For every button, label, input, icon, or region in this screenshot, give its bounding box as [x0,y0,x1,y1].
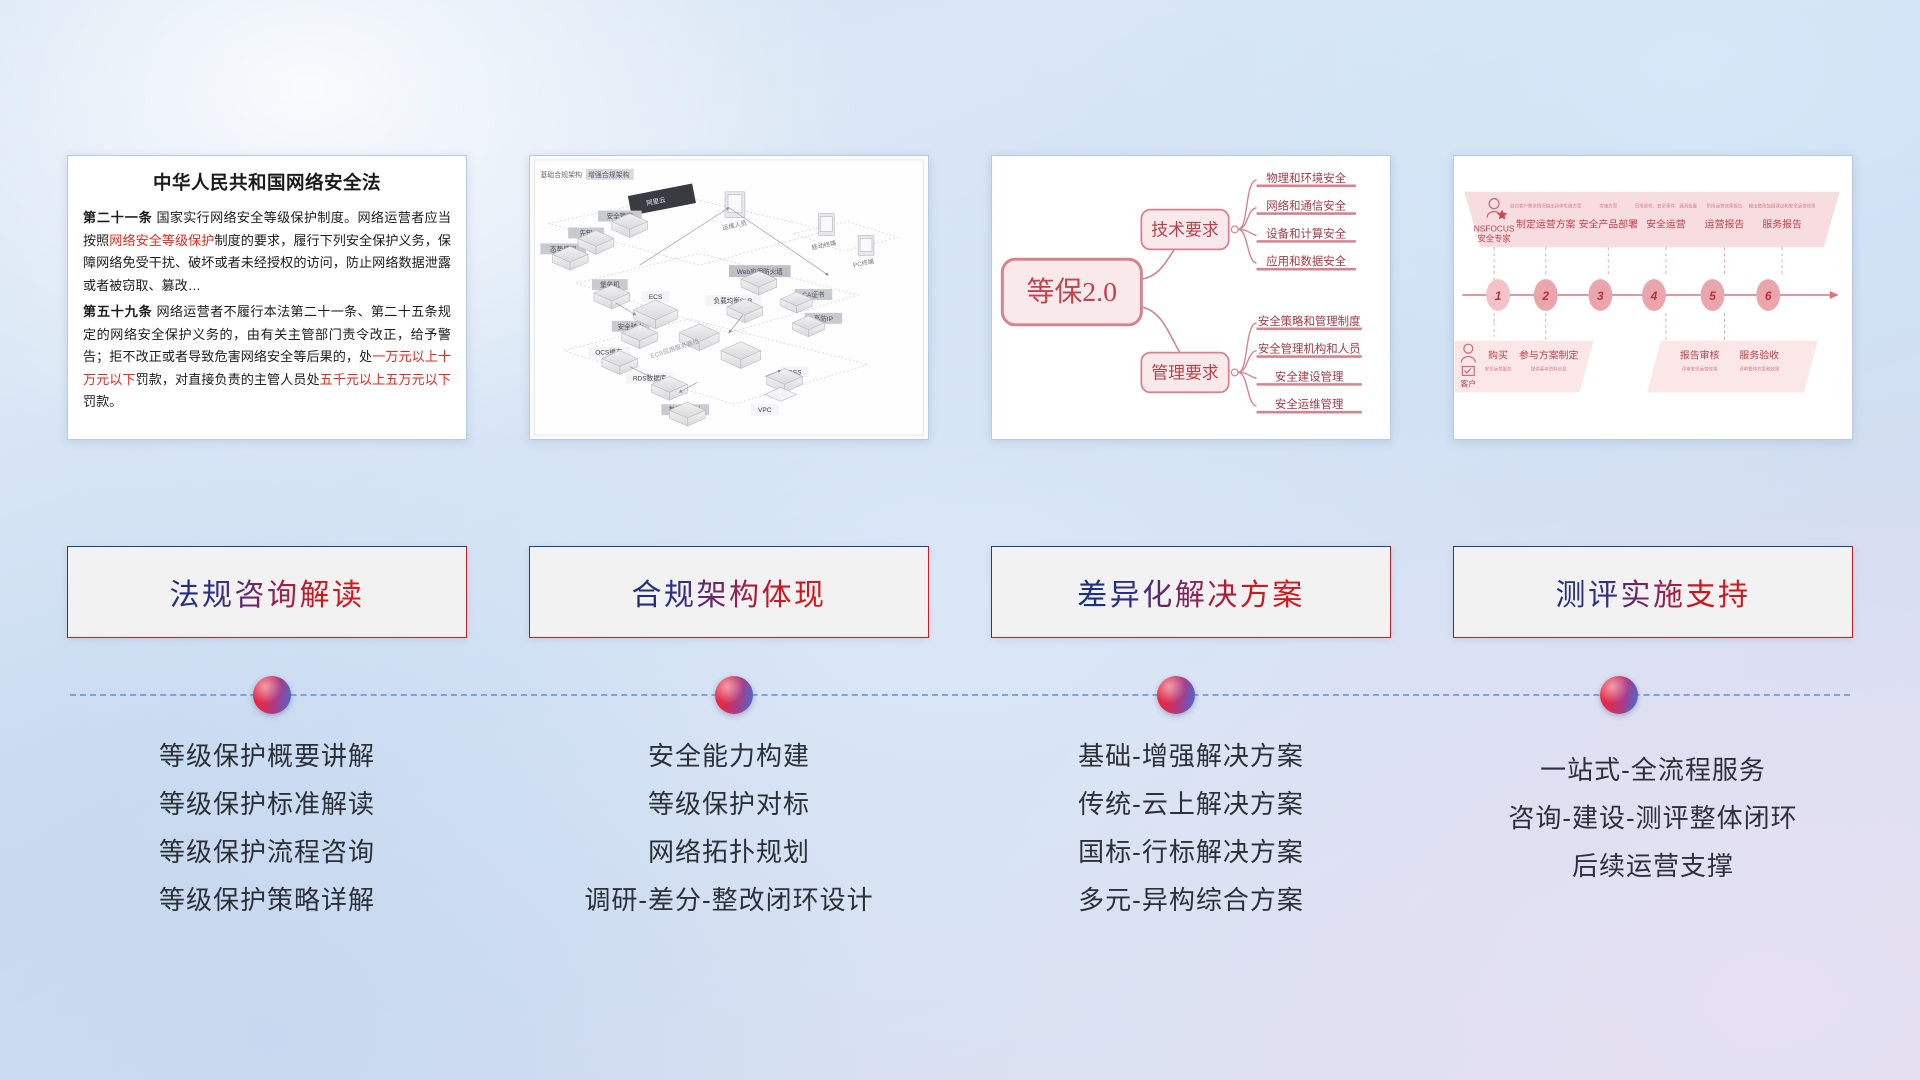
list-item: 等级保护概要讲解 [159,739,375,774]
list-item: 传统-云上解决方案 [1078,787,1304,822]
timeline-node-3[interactable] [1157,676,1195,714]
flow-vendor-title-1: 安全产品部署 [1579,217,1639,230]
mindmap-diagram: 等保2.0 技术要求 管理要求 [992,156,1390,439]
list-item: 后续运营支撑 [1572,849,1734,884]
list-assessment: 一站式-全流程服务 咨询-建设-测评整体闭环 后续运营支撑 [1453,735,1853,965]
flow-step-2: 2 [1541,289,1549,303]
mindmap-root: 等保2.0 [1027,277,1117,308]
preview-cards-row: 中华人民共和国网络安全法 第二十一条 国家实行网络安全等级保护制度。网络运营者应… [0,155,1920,445]
list-architecture: 安全能力构建 等级保护对标 网络拓扑规划 调研-差分-整改闭环设计 [529,735,929,965]
list-item: 咨询-建设-测评整体闭环 [1508,801,1797,836]
timeline-node-1[interactable] [253,676,291,714]
mindmap-branch-1: 管理要求 [1151,363,1219,382]
headline-regulation: 法规咨询解读 [170,570,365,614]
list-item: 调研-差分-整改闭环设计 [584,883,873,918]
flow-vendor-caption-0: 结合客户需求情况输出具体实施方案 [1510,203,1582,210]
list-item: 等级保护对标 [648,787,810,822]
list-item: 国标-行标解决方案 [1078,835,1304,870]
mindmap-leaf-tech-1: 网络和通信安全 [1266,199,1346,213]
flow-vendor-title-3: 运营报告 [1705,217,1745,230]
flow-customer-caption-1: 提供基本资料信息 [1531,365,1567,372]
flow-customer-title-1: 参与方案制定 [1519,349,1579,362]
headline-architecture: 合规架构体现 [632,570,827,614]
mindmap-branch-0: 技术要求 [1151,220,1219,239]
flow-vendor-title-2: 安全运营 [1646,217,1686,230]
mindmap-leaf-tech-2: 设备和计算安全 [1266,226,1346,240]
service-flow-card[interactable]: NSFOCUS 安全专家 结合客户需求情况输出具体实施方案 制定运营方案 实施方… [1453,155,1853,440]
timeline-node-2[interactable] [715,676,753,714]
flow-customer-caption-2: 评审安全运营效果 [1682,365,1718,372]
list-item: 等级保护策略详解 [159,883,375,918]
flow-step-3: 3 [1597,289,1604,303]
headline-box-assessment[interactable]: 测评实施支持 [1453,546,1853,638]
list-item: 基础-增强解决方案 [1078,739,1304,774]
architecture-diagram: 基础合规架构 增强合规架构 阿里云 安全管家 先知 [530,156,928,439]
service-flow-diagram: NSFOCUS 安全专家 结合客户需求情况输出具体实施方案 制定运营方案 实施方… [1454,156,1852,439]
flow-step-4: 4 [1650,289,1658,303]
list-item: 一站式-全流程服务 [1540,753,1766,788]
flow-customer-title-3: 服务验收 [1739,349,1779,362]
headline-solution: 差异化解决方案 [1077,570,1305,614]
headline-box-regulation[interactable]: 法规咨询解读 [67,546,467,638]
list-regulation: 等级保护概要讲解 等级保护标准解读 等级保护流程咨询 等级保护策略详解 [67,735,467,965]
law-article-2-body: 网络运营者不履行本法第二十一条、第二十五条规定的网络安全保护义务的，由有关主管部… [83,304,451,409]
flow-customer-title-2: 报告审核 [1680,349,1720,362]
flow-customer-caption-3: 评审整体方案和效果 [1739,365,1780,372]
cloud-architecture-card[interactable]: 基础合规架构 增强合规架构 阿里云 安全管家 先知 [529,155,929,440]
headline-boxes-row: 法规咨询解读 合规架构体现 差异化解决方案 测评实施支持 [0,546,1920,638]
flow-vendor-caption-3: 阶段运营效果报告 [1707,203,1743,210]
arch-tab-0: 基础合规架构 [540,170,582,179]
law-excerpt-card[interactable]: 中华人民共和国网络安全法 第二十一条 国家实行网络安全等级保护制度。网络运营者应… [67,155,467,440]
flow-vendor-role: 安全专家 [1477,233,1511,243]
arch-tab-1: 增强合规架构 [588,170,630,179]
slide-canvas: 中华人民共和国网络安全法 第二十一条 国家实行网络安全等级保护制度。网络运营者应… [0,0,1920,1080]
list-item: 多元-异构综合方案 [1078,883,1304,918]
mindmap-leaf-mgmt-3: 安全运维管理 [1275,397,1344,411]
mindmap-leaf-mgmt-2: 安全建设管理 [1275,369,1344,383]
flow-customer-caption-0: 安全运营服务 [1485,365,1512,372]
flow-step-1: 1 [1495,289,1502,303]
law-article-2: 第五十九条 网络运营者不履行本法第二十一条、第二十五条规定的网络安全保护义务的，… [83,301,451,414]
list-item: 网络拓扑规划 [648,835,810,870]
headline-box-architecture[interactable]: 合规架构体现 [529,546,929,638]
flow-vendor-caption-2: 日常巡检、安全事件、漏洞处置 [1635,203,1698,210]
timeline-node-4[interactable] [1600,676,1638,714]
flow-customer-label: 客户 [1460,378,1476,388]
mindmap-leaf-tech-3: 应用和数据安全 [1266,254,1346,268]
flow-vendor-name: NSFOCUS [1474,223,1515,233]
flow-step-5: 5 [1709,289,1716,303]
flow-step-6: 6 [1765,289,1772,303]
flow-vendor-caption-4: 输出整改加固建议和安全运营效果 [1749,203,1816,210]
timeline-dashed-line [70,694,1850,696]
mindmap-leaf-tech-0: 物理和环境安全 [1266,171,1346,185]
flow-vendor-title-4: 服务报告 [1762,217,1802,230]
list-item: 等级保护流程咨询 [159,835,375,870]
list-solution: 基础-增强解决方案 传统-云上解决方案 国标-行标解决方案 多元-异构综合方案 [991,735,1391,965]
flow-vendor-title-0: 制定运营方案 [1516,217,1576,230]
mindmap-leaf-mgmt-0: 安全策略和管理制度 [1258,314,1361,328]
law-article-2-label: 第五十九条 [83,304,153,319]
headline-assessment: 测评实施支持 [1556,570,1751,614]
mindmap-card[interactable]: 等保2.0 技术要求 管理要求 [991,155,1391,440]
mindmap-leaf-mgmt-1: 安全管理机构和人员 [1258,342,1361,356]
flow-vendor-caption-1: 实施方案 [1599,203,1617,210]
law-article-1: 第二十一条 国家实行网络安全等级保护制度。网络运营者应当按照网络安全等级保护制度… [83,207,451,297]
law-article-1-label: 第二十一条 [83,210,153,225]
feature-lists-row: 等级保护概要讲解 等级保护标准解读 等级保护流程咨询 等级保护策略详解 安全能力… [0,735,1920,965]
headline-box-solution[interactable]: 差异化解决方案 [991,546,1391,638]
list-item: 安全能力构建 [648,739,810,774]
arch-node-vpc: VPC [758,407,772,414]
flow-customer-title-0: 购买 [1488,349,1508,362]
list-item: 等级保护标准解读 [159,787,375,822]
law-card-title: 中华人民共和国网络安全法 [83,169,451,195]
